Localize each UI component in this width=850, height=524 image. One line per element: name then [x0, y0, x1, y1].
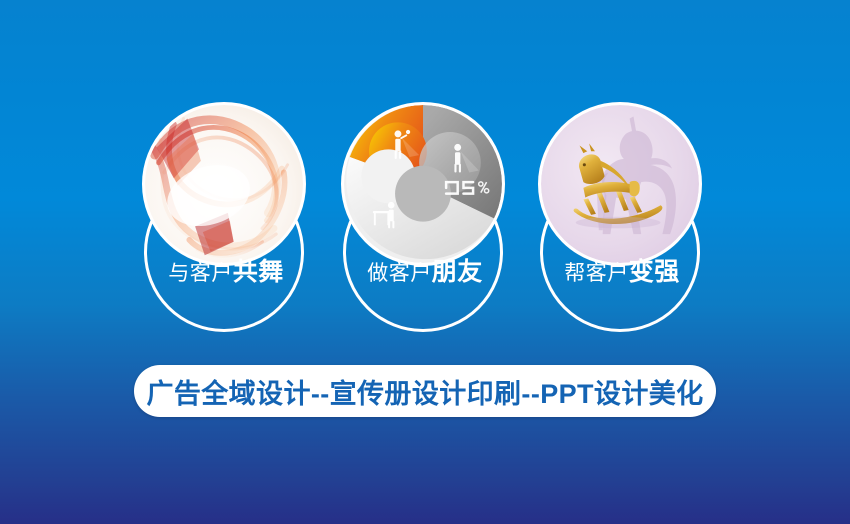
feature-photo-circle-3 [538, 102, 702, 266]
feature-label-lead-3: 帮客户 [564, 262, 629, 285]
feature-circles-group: 与客户共舞 [0, 0, 850, 340]
bottom-banner[interactable]: 广告全域设计--宣传册设计印刷--PPT设计美化 [134, 365, 716, 417]
feature-label-emph-1: 共舞 [233, 258, 284, 286]
feature-label-lead-1: 与客户 [168, 262, 233, 285]
infographic-circles-people-icons [344, 105, 502, 263]
feature-photo-circle-1 [142, 102, 306, 266]
feature-label-lead-2: 做客户 [367, 262, 432, 285]
feature-item-dance-with-customer[interactable]: 与客户共舞 [134, 100, 318, 340]
feature-item-make-customer-stronger[interactable]: 帮客户变强 [530, 100, 714, 340]
feature-label-1: 与客户共舞 [134, 260, 318, 285]
feature-label-2: 做客户朋友 [333, 260, 517, 285]
feature-photo-circle-2 [341, 102, 505, 266]
feature-label-3: 帮客户变强 [530, 260, 714, 285]
feature-label-emph-3: 变强 [629, 258, 680, 286]
poster-canvas: 与客户共舞 [0, 0, 850, 524]
feature-item-be-customer-friend[interactable]: 做客户朋友 [333, 100, 517, 340]
banner-text: 广告全域设计--宣传册设计印刷--PPT设计美化 [146, 372, 703, 411]
golden-rocking-horse-with-unicorn-shadow-photo [541, 105, 699, 263]
orange-abstract-smoke-swirl-photo [145, 105, 303, 263]
feature-label-emph-2: 朋友 [432, 258, 483, 286]
